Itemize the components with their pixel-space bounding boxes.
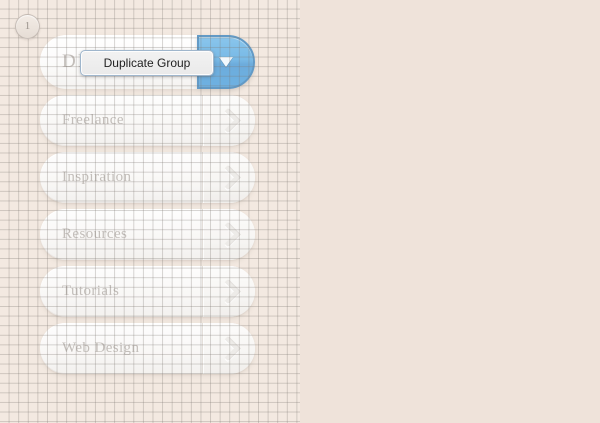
list-item[interactable]: Web Design [40,323,255,374]
list-item-label: Web Design [40,340,202,357]
chevron-right-button[interactable] [202,152,255,203]
chevron-right-button[interactable] [202,95,255,146]
step-badge-1: 1 [15,14,40,39]
chevron-right-button[interactable] [202,266,255,317]
list-item-label: Freelance [40,112,202,129]
chevron-right-icon [215,279,239,303]
triangle-down-icon [219,57,233,67]
list-item[interactable]: Inspiration [40,152,255,203]
chevron-right-button[interactable] [202,323,255,374]
list-item-label: Tutorials [40,283,202,300]
list-item-label: Resources [40,226,202,243]
list-item[interactable]: Tutorials [40,266,255,317]
final-render-panel: PIXOLUTION Freelance Inspiration Re [300,0,600,423]
list-item[interactable]: Resources [40,209,255,260]
chevron-right-icon [215,108,239,132]
duplicate-group-tooltip[interactable]: Duplicate Group [80,50,214,76]
grid-wireframe-panel: DIVISION Freelance Inspiration Reso [0,0,300,423]
chevron-right-button[interactable] [202,209,255,260]
menu-list-left: DIVISION Freelance Inspiration Reso [40,35,255,380]
chevron-right-icon [215,165,239,189]
list-item[interactable]: Freelance [40,95,255,146]
list-item-label: Inspiration [40,169,202,186]
chevron-right-icon [215,222,239,246]
chevron-right-icon [215,336,239,360]
screenshot-stage: DIVISION Freelance Inspiration Reso [0,0,600,423]
